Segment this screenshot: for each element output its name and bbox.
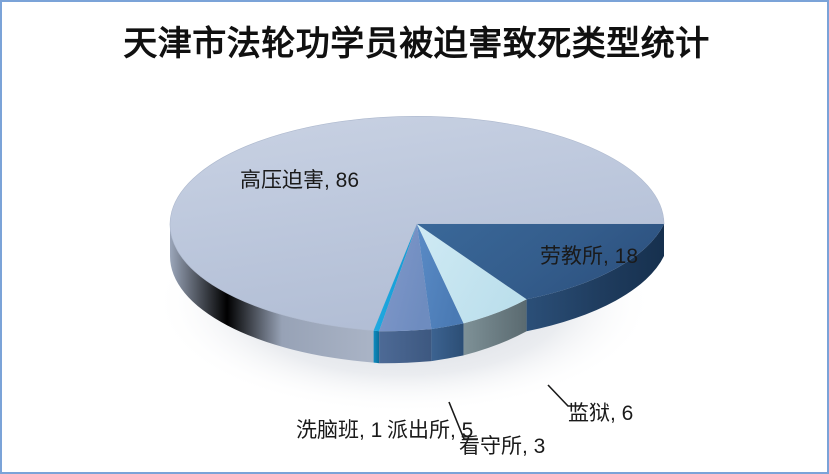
slice-label-gaoyapohai: 高压迫害, 86 — [240, 164, 359, 194]
pie-chart: 高压迫害, 86 劳教所, 18 监狱, 6 看守所, 3 派出所, 5 洗脑班… — [2, 2, 829, 474]
slice-side-xinaoban — [374, 331, 380, 364]
slice-label-paichusuo: 派出所, 5 — [387, 414, 473, 444]
slice-label-jianyu: 监狱, 6 — [568, 397, 633, 427]
chart-image-frame: 天津市法轮功学员被迫害致死类型统计 — [0, 0, 829, 474]
pie-chart-graphic — [2, 2, 829, 474]
slice-side-paichusuo — [379, 329, 431, 363]
slice-side-kanshousuo — [431, 323, 463, 361]
slice-label-xinaoban: 洗脑班, 1 — [296, 414, 382, 444]
slice-label-laojiaosuo: 劳教所, 18 — [540, 240, 638, 270]
